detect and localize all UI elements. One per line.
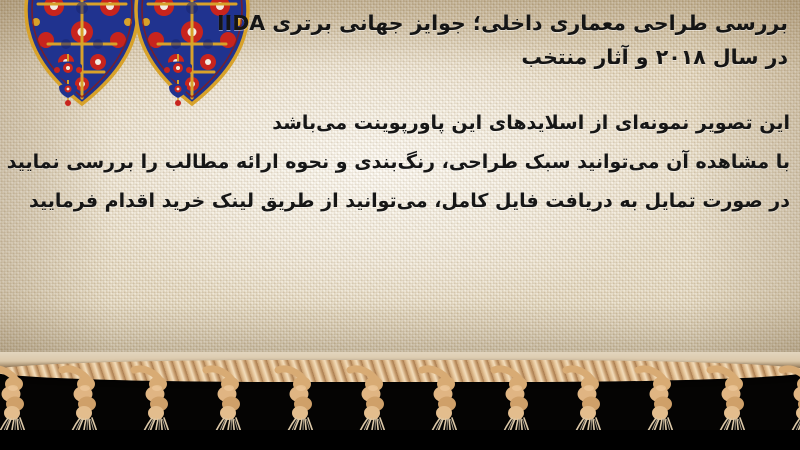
slide-body-line-3: در صورت تمایل به دریافت فایل کامل، می‌تو… (8, 182, 790, 221)
slide-body: این تصویر نمونه‌ای از اسلایدهای این پاور… (8, 104, 790, 221)
slide-body-line-2: با مشاهده آن می‌توانید سبک طراحی، رنگ‌بن… (8, 143, 790, 182)
slide-title: بررسی طراحی معماری داخلی؛ جوایز جهانی بر… (18, 6, 788, 74)
slide-text-layer: بررسی طراحی معماری داخلی؛ جوایز جهانی بر… (0, 0, 800, 378)
slide-bottom-border (0, 430, 800, 450)
slide-title-line-2: در سال ۲۰۱۸ و آثار منتخب (18, 40, 788, 74)
carpet-selvedge-cord (0, 360, 800, 382)
slide-title-line-1: بررسی طراحی معماری داخلی؛ جوایز جهانی بر… (18, 6, 788, 40)
powerpoint-slide-preview: بررسی طراحی معماری داخلی؛ جوایز جهانی بر… (0, 0, 800, 450)
slide-body-line-1: این تصویر نمونه‌ای از اسلایدهای این پاور… (8, 104, 790, 143)
